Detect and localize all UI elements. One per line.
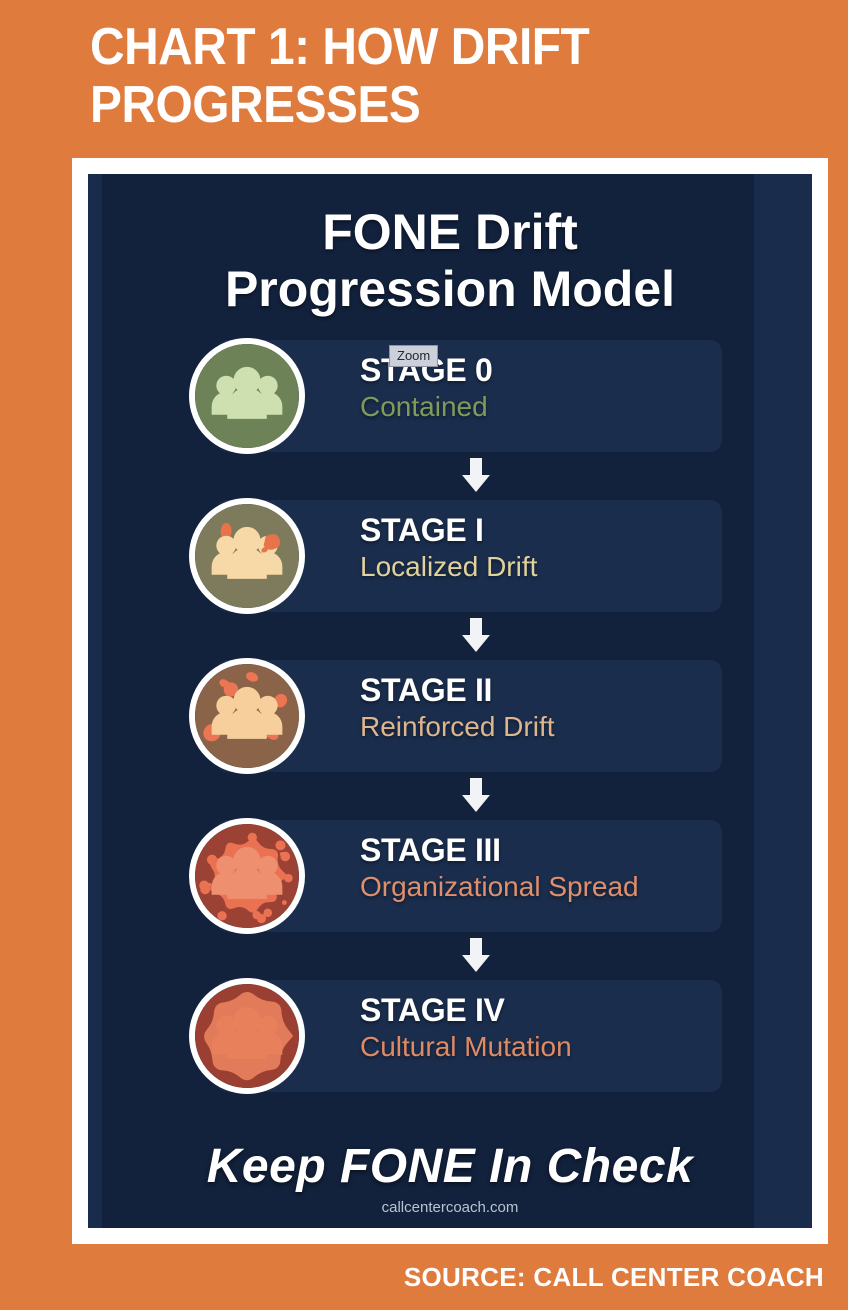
stage-label: Organizational Spread (360, 870, 639, 904)
stage-text: STAGE IIIOrganizational Spread (360, 832, 639, 904)
page-title: CHART 1: HOW DRIFT PROGRESSES (90, 18, 752, 134)
stage-text: STAGE ILocalized Drift (360, 512, 537, 584)
down-arrow-icon (457, 456, 495, 494)
tagline: Keep FONE In Check (88, 1140, 812, 1194)
down-arrow-icon (457, 616, 495, 654)
stage-row[interactable]: STAGE IIReinforced Drift (88, 652, 812, 780)
dark-panel: FONE Drift Progression Model STAGE 0Cont… (88, 174, 812, 1228)
stage-icon-2 (183, 652, 311, 780)
stage-number: STAGE III (360, 832, 639, 868)
zoom-tooltip[interactable]: Zoom (389, 345, 438, 367)
people-group-icon (189, 978, 305, 1094)
down-arrow-icon (457, 936, 495, 974)
stage-text: STAGE IVCultural Mutation (360, 992, 572, 1064)
website-url: callcentercoach.com (88, 1198, 812, 1218)
panel-footer: Keep FONE In Check callcentercoach.com (88, 1140, 812, 1218)
stage-row[interactable]: STAGE IIIOrganizational Spread (88, 812, 812, 940)
people-group-icon (189, 818, 305, 934)
people-group-icon (189, 658, 305, 774)
down-arrow-icon (457, 776, 495, 814)
panel-title: FONE Drift Progression Model (88, 174, 812, 318)
stage-label: Localized Drift (360, 550, 537, 584)
header-banner: CHART 1: HOW DRIFT PROGRESSES (0, 0, 848, 158)
stage-label: Contained (360, 390, 492, 424)
stage-number: STAGE I (360, 512, 537, 548)
stage-icon-1 (183, 492, 311, 620)
people-group-icon (189, 498, 305, 614)
stage-row[interactable]: STAGE 0Contained (88, 332, 812, 460)
infographic-poster: CHART 1: HOW DRIFT PROGRESSES FONE Drift… (0, 0, 848, 1310)
stage-list: STAGE 0Contained STAGE ILocalized Drift … (88, 332, 812, 1100)
stage-label: Cultural Mutation (360, 1030, 572, 1064)
stage-icon-3 (183, 812, 311, 940)
source-credit: SOURCE: CALL CENTER COACH (404, 1262, 824, 1292)
stage-number: STAGE IV (360, 992, 572, 1028)
poster-frame: FONE Drift Progression Model STAGE 0Cont… (72, 158, 828, 1244)
stage-icon-0 (183, 332, 311, 460)
panel-title-line2: Progression Model (88, 261, 812, 318)
stage-label: Reinforced Drift (360, 710, 555, 744)
stage-number: STAGE II (360, 672, 555, 708)
people-group-icon (189, 338, 305, 454)
stage-row[interactable]: STAGE ILocalized Drift (88, 492, 812, 620)
stage-row[interactable]: STAGE IVCultural Mutation (88, 972, 812, 1100)
stage-icon-4 (183, 972, 311, 1100)
panel-title-line1: FONE Drift (322, 204, 578, 260)
stage-text: STAGE IIReinforced Drift (360, 672, 555, 744)
